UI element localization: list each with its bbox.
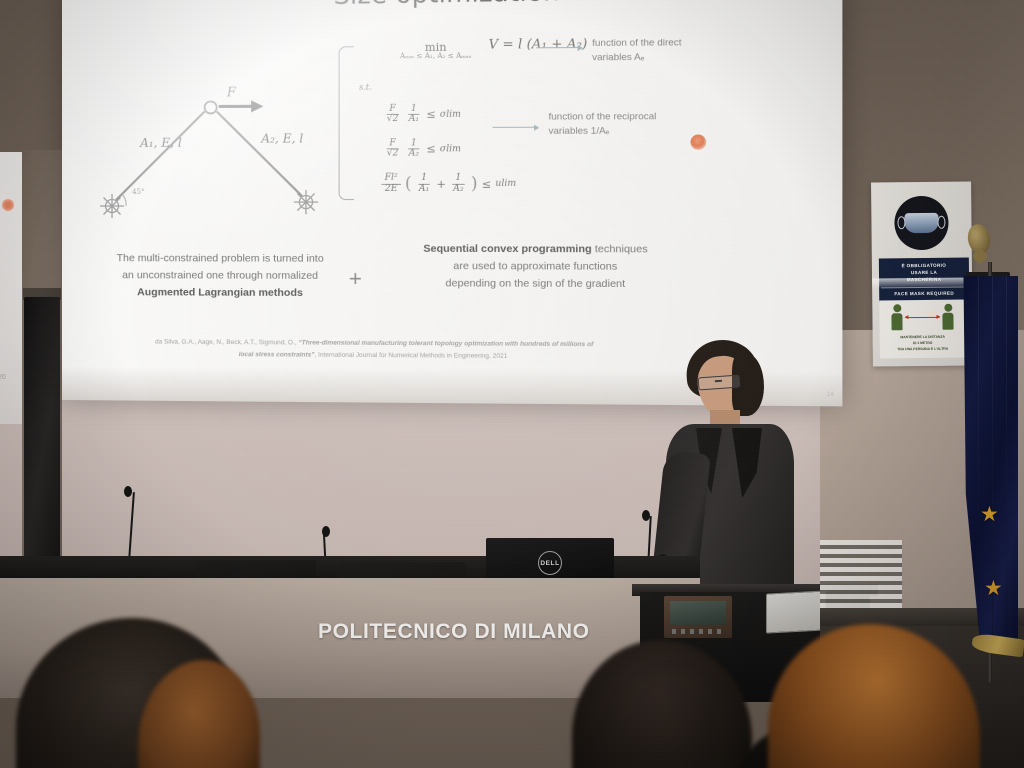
face-mask-poster: È OBBLIGATORIO USARE LA MASCHERINA FACE … bbox=[871, 181, 973, 366]
poster-english: FACE MASK REQUIRED bbox=[881, 286, 967, 296]
citation: da Silva, G.A., Aage, N., Beck, A.T., Si… bbox=[154, 337, 594, 364]
c3-close-paren: ) bbox=[471, 174, 478, 194]
c2-rel: ≤ bbox=[426, 143, 435, 156]
c2-rhs: σlim bbox=[440, 144, 461, 154]
av-control-panel bbox=[664, 596, 732, 638]
mask-glyph-icon bbox=[904, 213, 938, 233]
citation-journal: , International Journal for Numerical Me… bbox=[314, 351, 507, 359]
statement-left-line2: an unconstrained one through normalized bbox=[122, 269, 318, 282]
c3-term-1: 1 A₁ bbox=[416, 174, 433, 194]
constraint-3: Fl² 2E ( 1 A₁ + 1 A₂ ) ≤ ulim bbox=[382, 174, 517, 194]
statement-right-line3: depending on the sign of the gradient bbox=[445, 277, 625, 290]
distancing-text: MANTENERE LA DISTANZA DI 1 METRO TRA UNA… bbox=[897, 335, 948, 353]
person-pictogram-icon bbox=[891, 304, 902, 330]
formulation-brace bbox=[339, 46, 354, 200]
distancing-line2: DI 1 METRO bbox=[913, 341, 932, 345]
social-distancing-sign: MANTENERE LA DISTANZA DI 1 METRO TRA UNA… bbox=[879, 300, 966, 359]
av-panel-buttons[interactable] bbox=[672, 629, 724, 634]
objective-function: V = l (A₁ + A₂) bbox=[488, 37, 587, 53]
speaker-cabinet bbox=[24, 297, 60, 569]
statement-left-line1: The multi-constrained problem is turned … bbox=[117, 252, 324, 265]
c3-rhs: ulim bbox=[495, 179, 516, 189]
minimize-operator: min Aₘᵢₙ ≤ A₁, A₂ ≤ Aₘₐₓ bbox=[400, 42, 472, 61]
annotation-direct-variables: function of the direct variables Aₑ bbox=[592, 36, 718, 65]
c3-t2d: A₂ bbox=[450, 184, 467, 194]
venue-name: POLITECNICO DI MILANO bbox=[318, 620, 588, 644]
statement-left: The multi-constrained problem is turned … bbox=[104, 250, 337, 301]
constraint-1: F √2 1 A₁ ≤ σlim bbox=[384, 105, 461, 125]
statement-right-line1-rest: techniques bbox=[592, 243, 648, 255]
truss-svg bbox=[92, 83, 345, 225]
orange-circle-logo-icon bbox=[690, 135, 706, 150]
c3-t1d: A₁ bbox=[416, 184, 433, 194]
distance-arrow-icon bbox=[905, 317, 939, 319]
constraint-2-frac-b: 1 A₂ bbox=[406, 139, 423, 159]
plus-sign: + bbox=[349, 261, 362, 297]
c3-rel: ≤ bbox=[482, 177, 492, 190]
annotation-reciprocal-variables: function of the reciprocal variables 1/A… bbox=[549, 110, 674, 138]
constraint-1-frac-b: 1 A₁ bbox=[406, 105, 423, 125]
truss-angle-label: 45° bbox=[132, 188, 144, 196]
min-subscript: Aₘᵢₙ ≤ A₁, A₂ ≤ Aₘₐₓ bbox=[400, 53, 472, 60]
annotation-arrow-2-icon bbox=[493, 127, 539, 128]
microphone-capsule-icon bbox=[642, 510, 650, 521]
c3-num: Fl² bbox=[382, 174, 401, 185]
flag-fold bbox=[978, 276, 979, 652]
slide-title: Size optimization bbox=[277, 0, 617, 11]
constraint-1-frac-a: F √2 bbox=[384, 105, 402, 125]
laptop bbox=[766, 590, 826, 633]
c1-rhs: σlim bbox=[440, 110, 461, 120]
c3-den: 2E bbox=[382, 184, 401, 194]
poster-glare bbox=[872, 277, 972, 287]
microphone-capsule-icon bbox=[322, 526, 330, 537]
statement-left-line3: Augmented Lagrangian methods bbox=[137, 286, 303, 299]
statement-right-bold-lead: Sequential convex programming bbox=[423, 243, 591, 256]
av-panel-screen bbox=[670, 601, 726, 625]
truss-member-left-label: A₁, E, l bbox=[140, 136, 182, 150]
statement-right-line2: are used to approximate functions bbox=[453, 260, 617, 273]
lecture-hall-photo: 20 Size optimization bbox=[0, 0, 1024, 768]
c1-den2: A₁ bbox=[406, 115, 423, 125]
dell-logo: DELL bbox=[538, 551, 562, 575]
c1-den: √2 bbox=[384, 115, 402, 125]
left-board-page-number: 20 bbox=[0, 374, 6, 381]
constraint-2: F √2 1 A₂ ≤ σlim bbox=[384, 139, 461, 159]
two-bar-truss-figure: F A₁, E, l A₂, E, l 45° bbox=[92, 83, 345, 225]
c3-open-paren: ( bbox=[405, 174, 412, 194]
face-mask-icon bbox=[894, 196, 949, 251]
c2-den: √2 bbox=[384, 150, 402, 160]
distancing-line1: MANTENERE LA DISTANZA bbox=[900, 335, 945, 339]
truss-force-label: F bbox=[227, 85, 236, 100]
microphone-capsule-icon bbox=[124, 486, 132, 497]
eu-star-icon: ★ bbox=[980, 504, 999, 525]
c1-rel: ≤ bbox=[426, 108, 435, 121]
eu-star-icon: ★ bbox=[984, 578, 1003, 599]
distancing-line3: TRA UNA PERSONA E L'ALTRA bbox=[897, 347, 948, 352]
constraint-3-frac: Fl² 2E bbox=[382, 174, 401, 194]
person-pictogram-icon bbox=[942, 304, 953, 330]
flag-fold bbox=[1006, 276, 1007, 652]
c3-term-2: 1 A₂ bbox=[450, 174, 467, 194]
distancing-pictogram-icon bbox=[887, 304, 957, 333]
statement-right: Sequential convex programming techniques… bbox=[396, 241, 676, 293]
radiator bbox=[820, 540, 902, 618]
orange-dot-mark-icon bbox=[2, 199, 14, 211]
citation-authors: da Silva, G.A., Aage, N., Beck, A.T., Si… bbox=[155, 339, 297, 347]
subject-to-label: s.t. bbox=[359, 83, 372, 92]
constraint-2-frac-a: F √2 bbox=[384, 139, 402, 159]
c3-t1n: 1 bbox=[418, 174, 430, 185]
c3-plus: + bbox=[436, 177, 445, 190]
truss-member-right-label: A₂, E, l bbox=[261, 131, 303, 145]
c2-den2: A₂ bbox=[406, 150, 423, 160]
c3-t2n: 1 bbox=[452, 174, 464, 185]
